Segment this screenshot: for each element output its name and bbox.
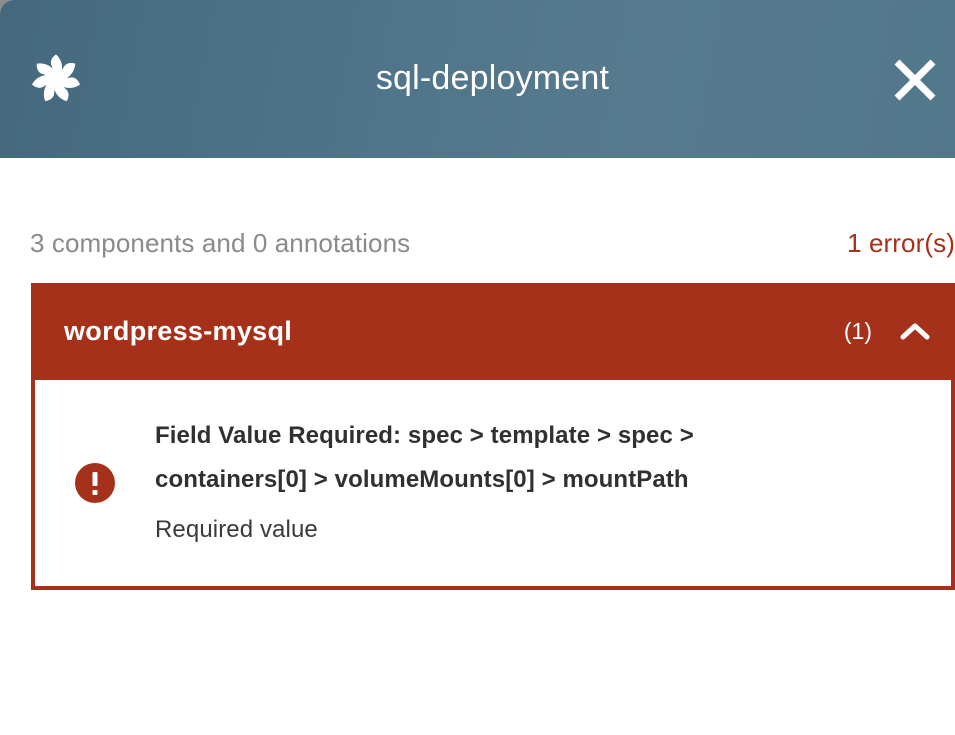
components-annotations-count: 3 components and 0 annotations — [30, 228, 410, 259]
close-icon — [890, 55, 940, 105]
error-icon-container — [35, 463, 155, 503]
accordion-issue-count: (1) — [844, 318, 872, 345]
error-list-item: Field Value Required: spec > template > … — [35, 414, 921, 552]
error-title: Field Value Required: spec > template > … — [155, 414, 755, 502]
error-text-block: Field Value Required: spec > template > … — [155, 414, 921, 552]
accordion-header-wordpress-mysql[interactable]: wordpress-mysql (1) — [31, 283, 955, 380]
error-count-label: 1 error(s) — [847, 228, 955, 259]
error-exclamation-icon — [75, 463, 115, 503]
accordion-title: wordpress-mysql — [64, 316, 844, 347]
close-modal-button[interactable] — [887, 52, 943, 108]
modal-body: 3 components and 0 annotations 1 error(s… — [0, 228, 955, 590]
resource-accordion: wordpress-mysql (1) Field Value Required… — [31, 283, 955, 590]
chevron-up-icon[interactable] — [898, 315, 932, 349]
validation-summary-row: 3 components and 0 annotations 1 error(s… — [0, 228, 955, 264]
accordion-panel: Field Value Required: spec > template > … — [31, 380, 955, 590]
modal-header: sql-deployment — [0, 0, 955, 158]
resource-validation-modal: sql-deployment 3 components and 0 annota… — [0, 0, 955, 735]
error-detail: Required value — [155, 508, 921, 552]
modal-title: sql-deployment — [0, 55, 955, 101]
